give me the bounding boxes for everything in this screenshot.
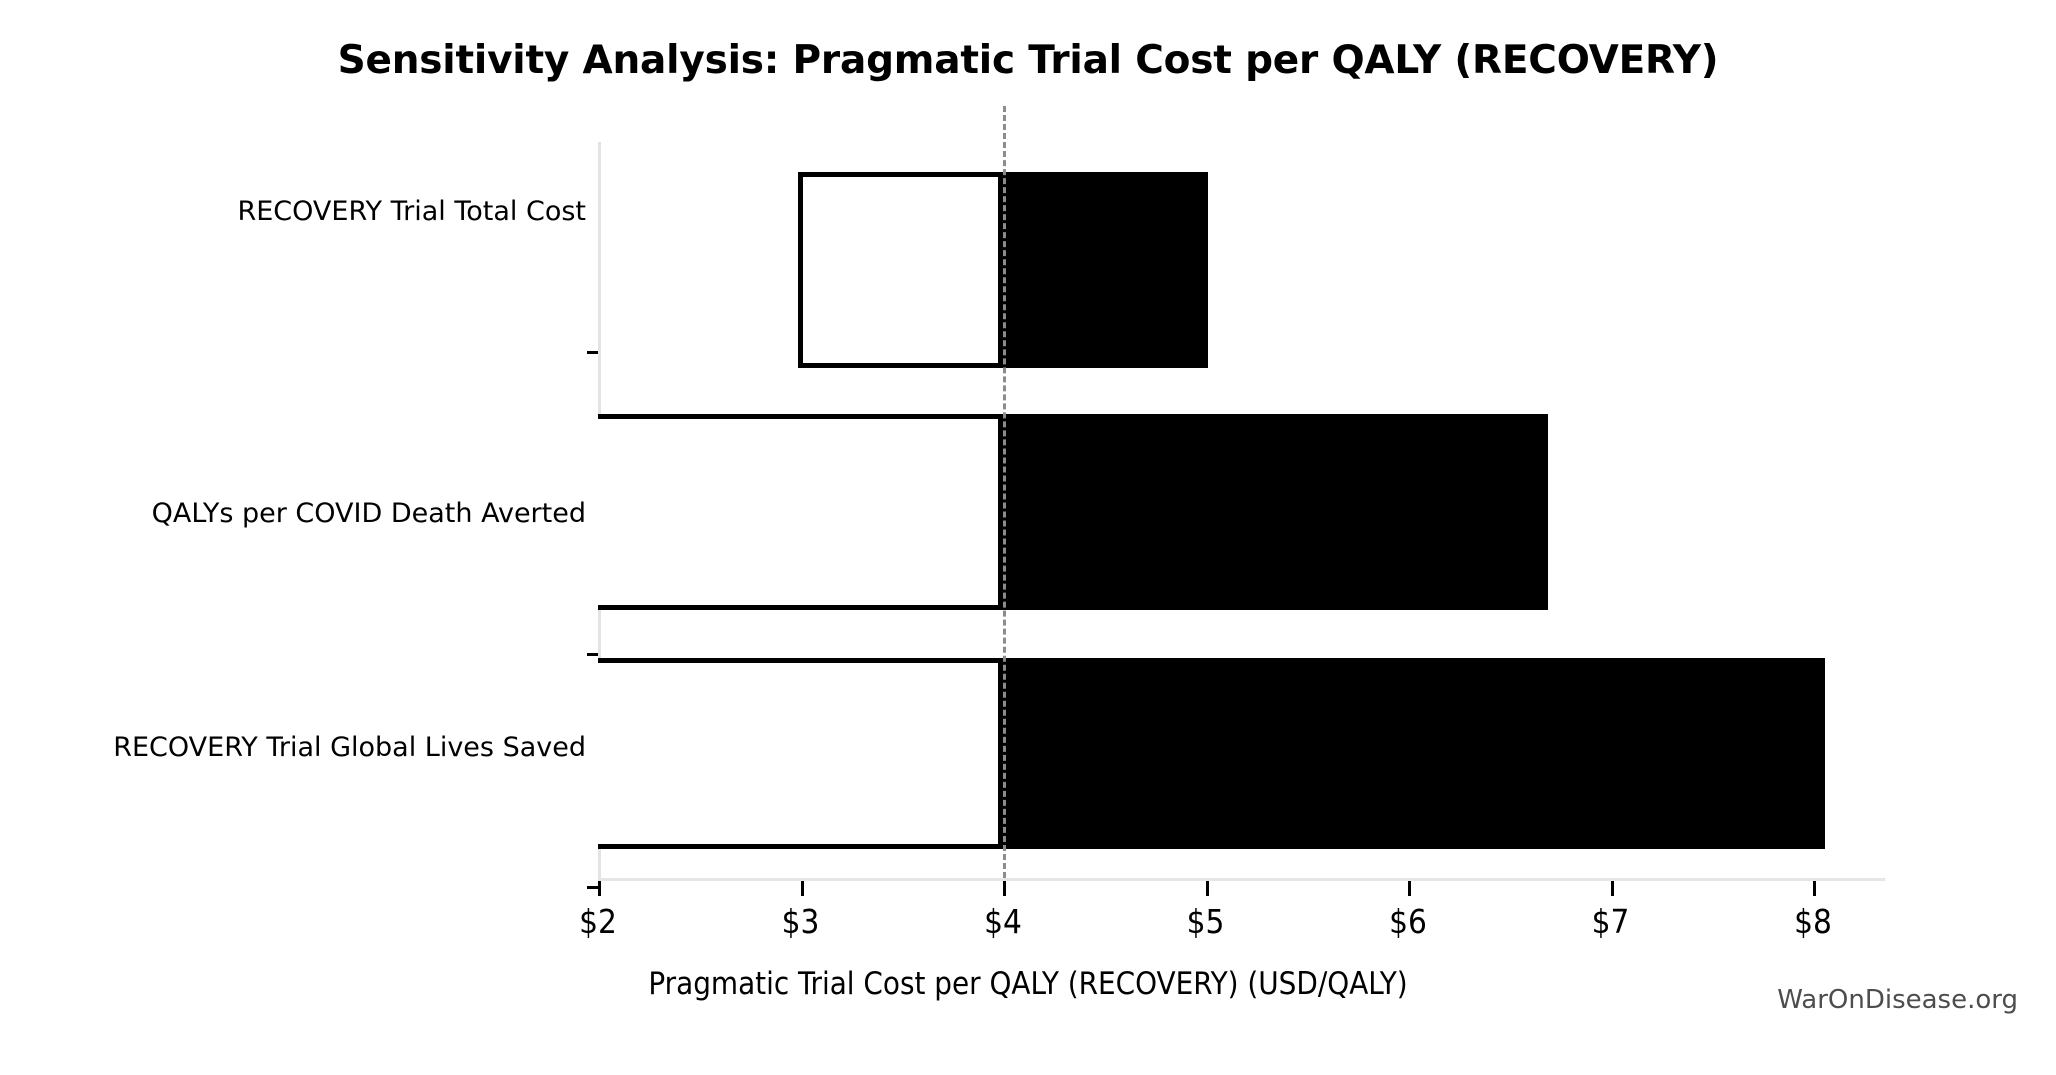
x-axis-tick-label: $4 bbox=[943, 902, 1063, 941]
bar-row[interactable] bbox=[598, 414, 1885, 610]
watermark: WarOnDisease.org bbox=[1777, 985, 2018, 1015]
plot-area: $2$3$4$5$6$7$8 bbox=[598, 142, 1885, 881]
x-axis-spine bbox=[598, 878, 1885, 881]
y-axis-label-recovery-trial-total-cost: RECOVERY Trial Total Cost bbox=[237, 196, 586, 227]
x-axis-tick bbox=[1408, 881, 1411, 896]
x-axis-title: Pragmatic Trial Cost per QALY (RECOVERY)… bbox=[0, 966, 2056, 1002]
bar-low-segment[interactable] bbox=[598, 658, 1003, 849]
baseline-reference-line bbox=[1003, 106, 1006, 887]
y-axis-tick bbox=[587, 351, 598, 354]
x-axis-tick-label: $8 bbox=[1753, 902, 1873, 941]
bar-high-segment[interactable] bbox=[1003, 172, 1208, 368]
bar-high-segment[interactable] bbox=[1003, 658, 1825, 849]
x-axis-tick bbox=[1813, 881, 1816, 896]
x-axis-tick-label: $5 bbox=[1146, 902, 1266, 941]
y-axis-tick bbox=[587, 653, 598, 656]
bar-row[interactable] bbox=[598, 658, 1885, 849]
chart-title: Sensitivity Analysis: Pragmatic Trial Co… bbox=[0, 38, 2056, 83]
x-axis-tick bbox=[1003, 881, 1006, 896]
x-axis-tick bbox=[1206, 881, 1209, 896]
bar-row[interactable] bbox=[598, 172, 1885, 368]
y-axis-label-qalys-per-covid-death-averted: QALYs per COVID Death Averted bbox=[152, 498, 586, 529]
x-axis-tick bbox=[598, 881, 601, 896]
y-axis-tick bbox=[587, 886, 598, 889]
x-axis-tick-label: $3 bbox=[741, 902, 861, 941]
y-axis-label-recovery-trial-global-lives-saved: RECOVERY Trial Global Lives Saved bbox=[113, 732, 586, 763]
x-axis-tick bbox=[801, 881, 804, 896]
x-axis-tick-label: $6 bbox=[1348, 902, 1468, 941]
x-axis-tick-label: $2 bbox=[538, 902, 658, 941]
bar-high-segment[interactable] bbox=[1003, 414, 1548, 610]
x-axis-tick-label: $7 bbox=[1551, 902, 1671, 941]
bar-low-segment[interactable] bbox=[598, 414, 1003, 610]
chart-figure: Sensitivity Analysis: Pragmatic Trial Co… bbox=[0, 0, 2056, 1075]
bar-low-segment[interactable] bbox=[798, 172, 1003, 368]
x-axis-tick bbox=[1611, 881, 1614, 896]
